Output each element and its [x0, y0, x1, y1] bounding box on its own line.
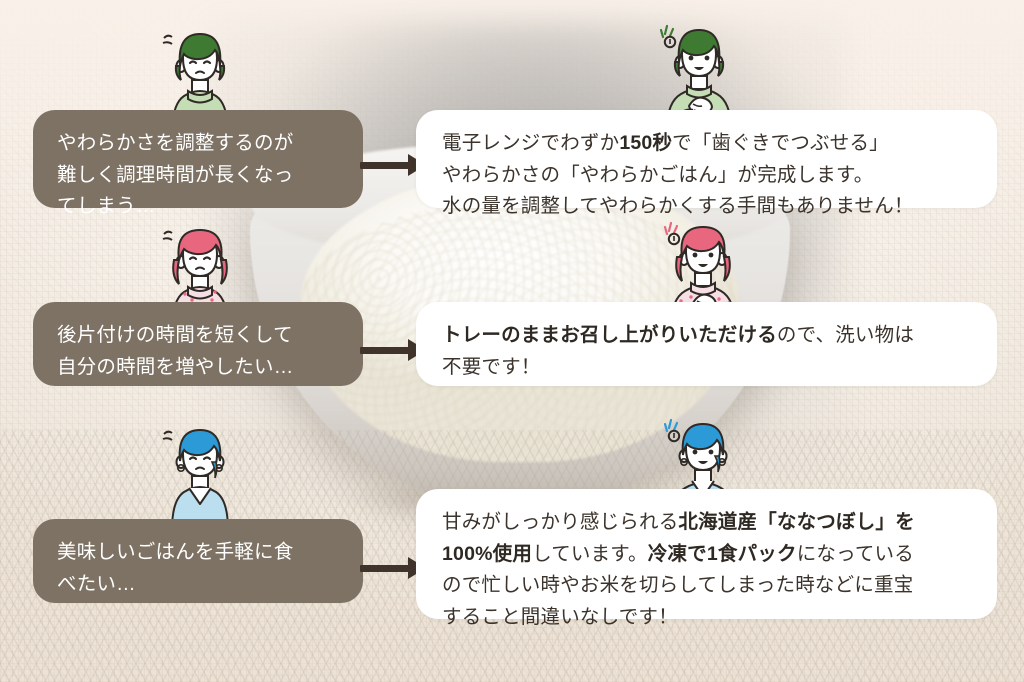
- problem-bubble-3: 美味しいごはんを手軽に食 べたい…: [33, 519, 363, 603]
- answer-line: ので忙しい時やお米を切らしてしまった時などに重宝: [442, 570, 971, 602]
- answer-span: しています。: [532, 543, 648, 565]
- problem-bubble-2: 後片付けの時間を短くして 自分の時間を増やしたい…: [33, 302, 363, 386]
- problem-line: 自分の時間を増やしたい…: [57, 352, 339, 384]
- answer-span-bold: 北海道産「ななつぼし」を: [678, 511, 914, 533]
- answer-bubble-3: 甘みがしっかり感じられる北海道産「ななつぼし」を 100%使用しています。冷凍で…: [416, 489, 997, 619]
- problem-line: 後片付けの時間を短くして: [57, 320, 339, 352]
- answer-line: 不要です！: [442, 352, 971, 384]
- idea-sparkle-icon: [665, 223, 679, 244]
- answer-line: やわらかさの「やわらかごはん」が完成します。: [442, 160, 971, 192]
- problem-line: やわらかさを調整するのが: [57, 128, 339, 160]
- answer-span: 不要です！: [442, 356, 541, 378]
- answer-span-bold: トレーのままお召し上がりいただける: [442, 324, 777, 346]
- answer-bubble-2: トレーのままお召し上がりいただけるので、洗い物は 不要です！: [416, 302, 997, 386]
- sweat-drop-icon: [163, 36, 172, 44]
- answer-span: ので忙しい時やお米を切らしてしまった時などに重宝: [442, 574, 913, 596]
- answer-span-bold: 150秒: [619, 132, 672, 154]
- answer-line: トレーのままお召し上がりいただけるので、洗い物は: [442, 320, 971, 352]
- answer-span: 水の量を調整してやわらかくする手間もありません！: [442, 195, 914, 217]
- answer-line: すること間違いなしです！: [442, 602, 971, 634]
- answer-span: 甘みがしっかり感じられる: [442, 511, 678, 533]
- answer-line: 電子レンジでわずか150秒で「歯ぐきでつぶせる」: [442, 128, 971, 160]
- person-row3-left-worried: [152, 418, 248, 530]
- answer-line: 100%使用しています。冷凍で1食パックになっている: [442, 539, 971, 571]
- idea-sparkle-icon: [665, 420, 679, 441]
- answer-span: ので、洗い物は: [777, 324, 914, 346]
- answer-span-bold: 100%使用: [442, 543, 532, 565]
- problem-line: 美味しいごはんを手軽に食: [57, 537, 339, 569]
- answer-span: 電子レンジでわずか: [442, 132, 619, 154]
- problem-line: 難しく調理時間が長くなっ: [57, 160, 339, 192]
- answer-span: になっている: [797, 543, 914, 565]
- infographic-canvas: やわらかさを調整するのが 難しく調理時間が長くなっ てしまう… 電子レンジでわず…: [0, 0, 1024, 682]
- answer-bubble-1: 電子レンジでわずか150秒で「歯ぐきでつぶせる」 やわらかさの「やわらかごはん」…: [416, 110, 997, 208]
- answer-span-bold: 冷凍で1食パック: [648, 543, 797, 565]
- problem-bubble-1: やわらかさを調整するのが 難しく調理時間が長くなっ てしまう…: [33, 110, 363, 208]
- idea-sparkle-icon: [661, 26, 675, 47]
- answer-span: やわらかさの「やわらかごはん」が完成します。: [442, 164, 873, 186]
- sweat-drop-icon: [163, 432, 172, 440]
- problem-line: べたい…: [57, 569, 339, 601]
- sweat-drop-icon: [163, 232, 172, 240]
- answer-line: 甘みがしっかり感じられる北海道産「ななつぼし」を: [442, 507, 971, 539]
- answer-span: すること間違いなしです！: [442, 606, 678, 628]
- answer-span: で「歯ぐきでつぶせる」: [672, 132, 889, 154]
